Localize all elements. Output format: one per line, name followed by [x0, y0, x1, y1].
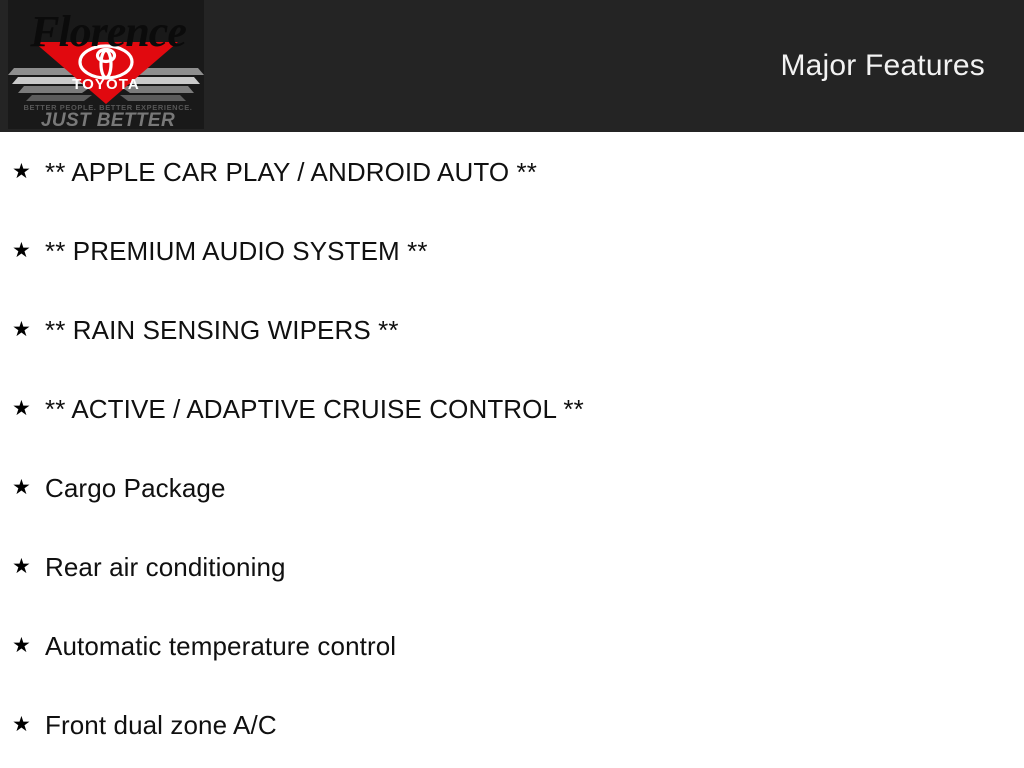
star-icon: ★: [12, 161, 34, 182]
florence-toyota-logo-icon: TOYOTA Florence BETTER PEOPLE. BETTER EX…: [8, 0, 204, 129]
feature-label: Front dual zone A/C: [45, 710, 277, 740]
feature-label: ** RAIN SENSING WIPERS **: [45, 315, 399, 345]
list-item: ★ ** APPLE CAR PLAY / ANDROID AUTO **: [0, 132, 1024, 211]
star-icon: ★: [12, 635, 34, 656]
list-item: ★ ** RAIN SENSING WIPERS **: [0, 290, 1024, 369]
page-header: TOYOTA Florence BETTER PEOPLE. BETTER EX…: [0, 0, 1024, 132]
list-item: ★ Cargo Package: [0, 448, 1024, 527]
page-title: Major Features: [780, 48, 985, 84]
star-icon: ★: [12, 319, 34, 340]
feature-label: ** APPLE CAR PLAY / ANDROID AUTO **: [45, 157, 537, 187]
toyota-wordmark: TOYOTA: [72, 76, 140, 93]
list-item: ★ ** PREMIUM AUDIO SYSTEM **: [0, 211, 1024, 290]
dealer-logo: TOYOTA Florence BETTER PEOPLE. BETTER EX…: [8, 0, 204, 129]
feature-label: Rear air conditioning: [45, 552, 286, 582]
star-icon: ★: [12, 556, 34, 577]
feature-label: ** ACTIVE / ADAPTIVE CRUISE CONTROL **: [45, 394, 584, 424]
major-features-page: TOYOTA Florence BETTER PEOPLE. BETTER EX…: [0, 0, 1024, 768]
star-icon: ★: [12, 714, 34, 735]
tagline-large: JUST BETTER: [41, 110, 175, 129]
florence-script: Florence: [29, 7, 186, 56]
major-features-list: ★ ** APPLE CAR PLAY / ANDROID AUTO ** ★ …: [0, 132, 1024, 764]
star-icon: ★: [12, 240, 34, 261]
list-item: ★ Automatic temperature control: [0, 606, 1024, 685]
feature-label: Automatic temperature control: [45, 631, 396, 661]
feature-label: Cargo Package: [45, 473, 226, 503]
star-icon: ★: [12, 398, 34, 419]
list-item: ★ ** ACTIVE / ADAPTIVE CRUISE CONTROL **: [0, 369, 1024, 448]
list-item: ★ Rear air conditioning: [0, 527, 1024, 606]
feature-label: ** PREMIUM AUDIO SYSTEM **: [45, 236, 428, 266]
list-item: ★ Front dual zone A/C: [0, 685, 1024, 764]
star-icon: ★: [12, 477, 34, 498]
